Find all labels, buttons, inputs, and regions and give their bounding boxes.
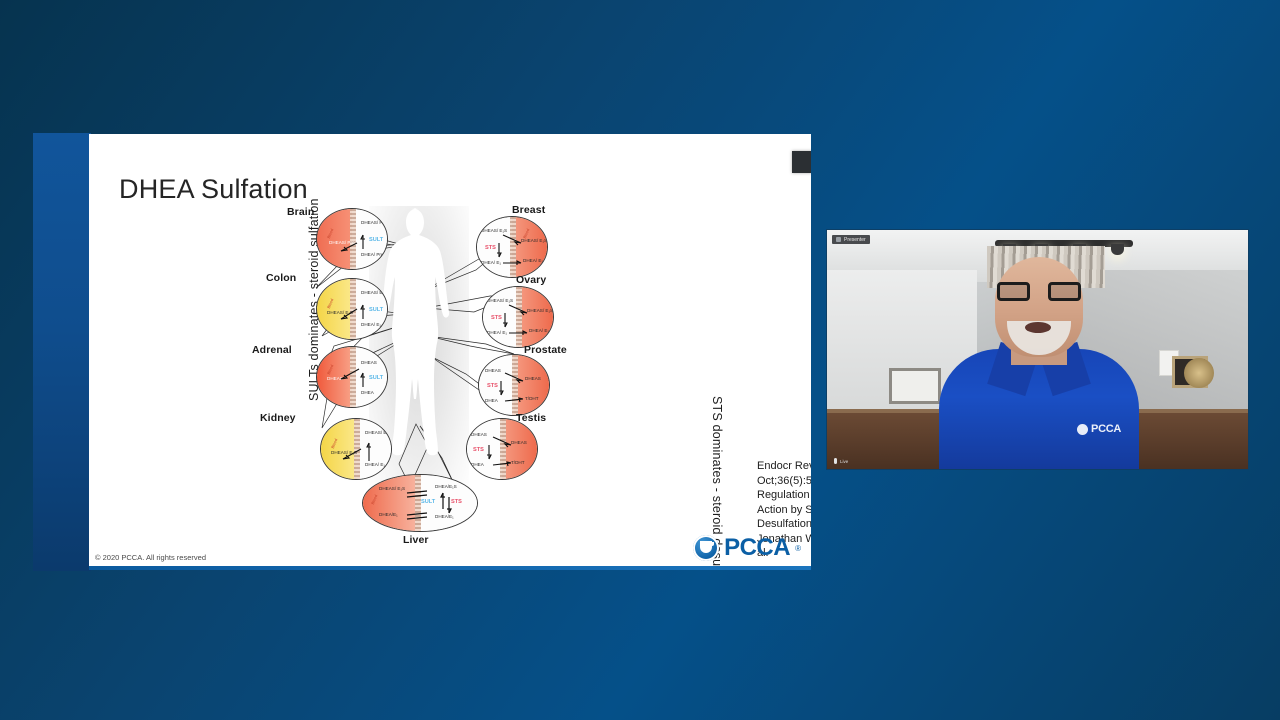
organ-label-liver: Liver <box>403 534 429 546</box>
video-room-background: PCCA <box>827 230 1248 469</box>
eyeglasses-icon <box>997 282 1081 301</box>
organ-bubble-colon: Blood DHEAS/ E₁S DHEAS/ E₁S SULT DHEA/ E… <box>316 278 388 340</box>
organ-label-ovary: Ovary <box>516 274 546 286</box>
participant-name: Presenter <box>844 237 866 243</box>
polo-shirt <box>939 349 1139 469</box>
organ-label-colon: Colon <box>266 272 296 284</box>
registered-trademark-icon: ® <box>795 544 801 553</box>
pcca-wordmark: PCCA <box>724 534 790 562</box>
pcca-logo: PCCA ® <box>693 534 801 562</box>
pcca-mortar-icon <box>693 535 719 561</box>
camera-icon <box>836 237 841 242</box>
citation-line: Desulfation <box>757 517 811 532</box>
organ-bubble-ovary: DHEAS/ E₁S STS DHEA/ E₁ DHEAS/ E₁S DHEA/… <box>482 286 554 348</box>
citation-line: Endocr Rev. 2015 <box>757 459 811 474</box>
organ-bubble-adrenal: Blood DHEAS DHEAS SULT DHEA <box>316 346 388 408</box>
shirt-logo: PCCA <box>1077 423 1121 435</box>
presenter-person: PCCA <box>939 274 1139 469</box>
organ-label-brain: Brain <box>287 206 314 218</box>
presentation-slide[interactable]: DHEA Sulfation SULTs dominates - steroid… <box>89 134 811 570</box>
organ-label-adrenal: Adrenal <box>252 344 292 356</box>
microphone-icon <box>834 458 837 464</box>
video-status-bar: Live <box>831 457 851 465</box>
slide-corner-artifact <box>792 151 811 173</box>
organ-bubble-brain: Blood DHEAS/ PregS DHEAS/ PregS SULT DHE… <box>316 208 388 270</box>
slide-left-accent-bar <box>33 133 91 571</box>
organ-bubble-breast: DHEAS/ E₁S STS DHEA/ E₁ Blood DHEAS/ E₁S… <box>476 216 548 278</box>
participant-name-badge: Presenter <box>832 235 870 244</box>
copyright-notice: © 2020 PCCA. All rights reserved <box>95 553 206 562</box>
dhea-sulfation-diagram: SULTs dominates - steroid sulfation STS … <box>194 196 634 556</box>
organ-bubble-prostate: DHEAS STS DHEA DHEAS T/DHT <box>478 354 550 416</box>
citation-line: Oct;36(5):526-63. The <box>757 474 811 489</box>
pcca-mortar-icon <box>1077 424 1088 435</box>
organ-bubble-testis: DHEAS STS DHEA DHEAS T/DHT <box>466 418 538 480</box>
desk-frame-left <box>889 368 941 404</box>
citation-line: Action by Sulfation and <box>757 503 811 518</box>
organ-bubble-liver: Blood DHEAS/ E₁S DHEA/E₁ SULT STS DHEA/E… <box>362 474 478 532</box>
organ-bubble-kidney: Blood DHEAS/ E₁S DHEAS/ E₁S DHEA/ E₁ <box>320 418 392 480</box>
organ-label-kidney: Kidney <box>260 412 296 424</box>
presenter-video-tile[interactable]: PCCA Presenter Live <box>826 229 1249 470</box>
slide-bottom-accent <box>89 566 811 570</box>
organ-label-breast: Breast <box>512 204 545 216</box>
citation-line: Regulation of Steroid <box>757 488 811 503</box>
light-bulb-icon <box>1111 244 1124 255</box>
desk-clock-icon <box>1184 358 1214 388</box>
shirt-logo-text: PCCA <box>1091 423 1121 435</box>
video-status-text: Live <box>840 459 848 464</box>
mouth <box>1025 322 1051 333</box>
